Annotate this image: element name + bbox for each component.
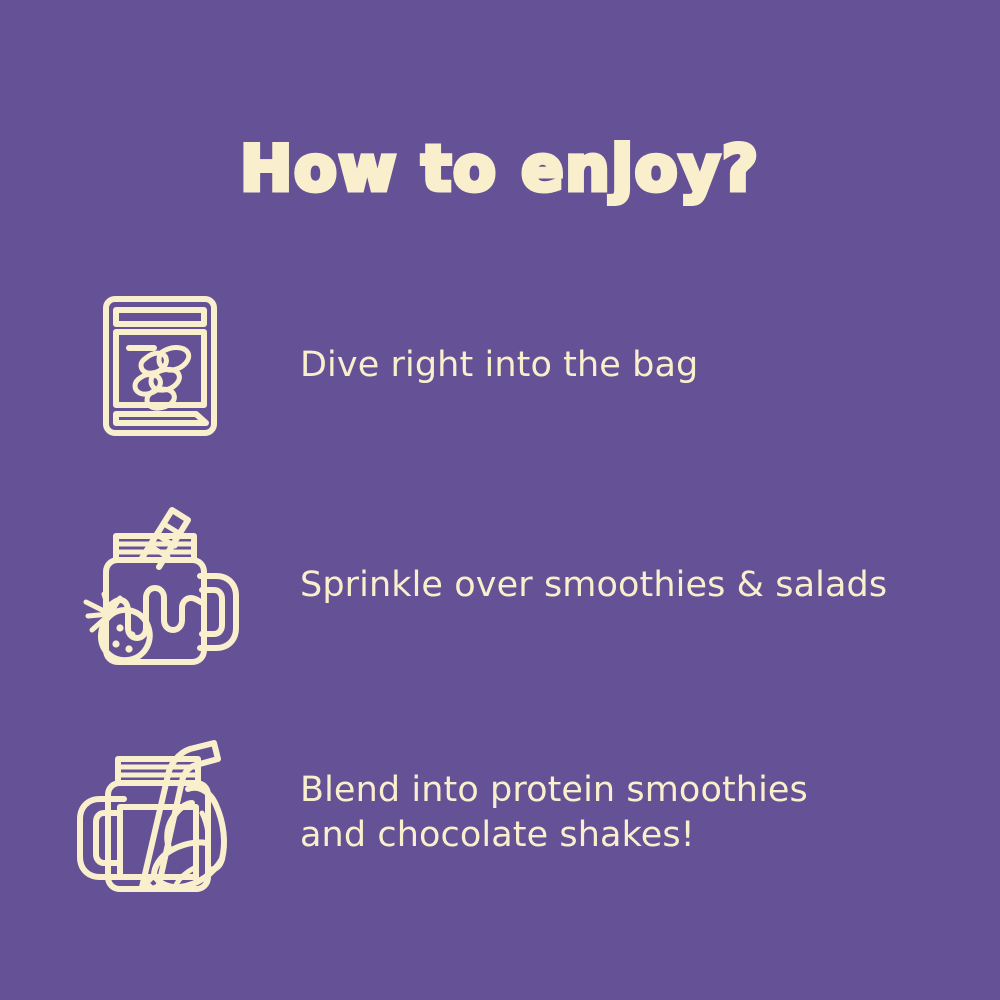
page-title-container: How to enjoy? xyxy=(0,96,1000,241)
step-2-icon-cell xyxy=(0,502,300,670)
how-to-enjoy-poster: How to enjoy? xyxy=(0,0,1000,1000)
seed-bag-icon xyxy=(96,292,224,440)
steps-list: Dive right into the bag xyxy=(0,258,1000,928)
banana-icon xyxy=(146,788,224,889)
list-item-step-3: Blend into protein smoothies and chocola… xyxy=(0,698,1000,928)
smoothie-jar-banana-icon xyxy=(74,727,246,899)
smoothie-jar-strawberry-icon xyxy=(76,502,244,670)
list-item-step-2: Sprinkle over smoothies & salads xyxy=(0,473,1000,698)
page-title: How to enjoy? xyxy=(240,138,760,200)
step-1-caption: Dive right into the bag xyxy=(300,343,960,388)
step-3-icon-cell xyxy=(0,727,300,899)
list-item-step-1: Dive right into the bag xyxy=(0,258,1000,473)
seed-cluster-icon xyxy=(135,347,189,408)
strawberry-icon xyxy=(86,594,150,660)
step-2-caption: Sprinkle over smoothies & salads xyxy=(300,563,960,608)
step-3-caption: Blend into protein smoothies and chocola… xyxy=(300,768,960,858)
step-3-text-cell: Blend into protein smoothies and chocola… xyxy=(300,768,1000,858)
step-1-text-cell: Dive right into the bag xyxy=(300,343,1000,388)
step-1-icon-cell xyxy=(0,292,300,440)
step-2-text-cell: Sprinkle over smoothies & salads xyxy=(300,563,1000,608)
